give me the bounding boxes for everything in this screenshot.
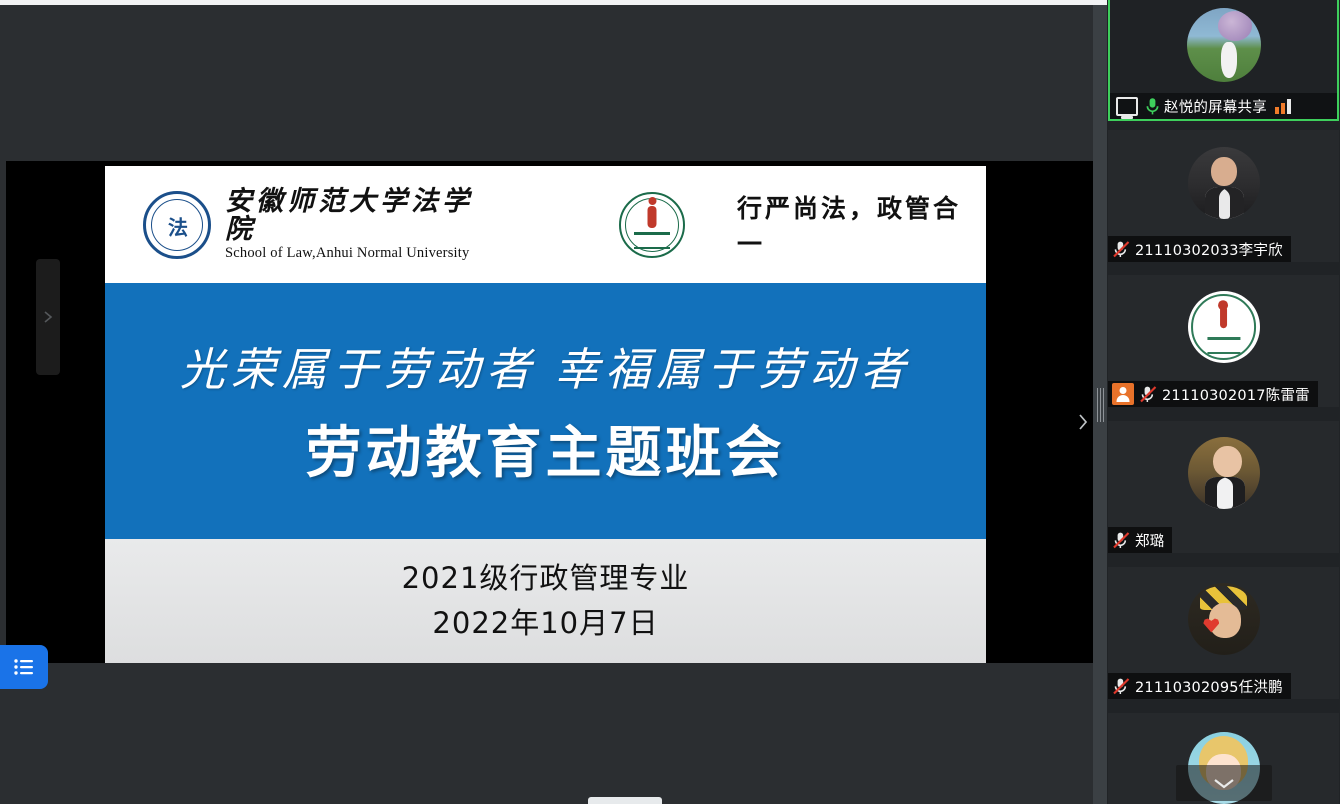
avatar <box>1188 291 1260 363</box>
participant-name-strip: 21110302095任洪鹏 <box>1108 673 1291 699</box>
participant-tile-sharing[interactable]: 赵悦的屏幕共享 <box>1108 0 1339 121</box>
avatar <box>1187 8 1261 82</box>
bottom-toolbar-peek[interactable] <box>588 797 662 804</box>
law-school-logo: 法 安徽师范大学法学院 School of Law,Anhui Normal U… <box>143 187 501 263</box>
scroll-down-button[interactable] <box>1176 765 1272 801</box>
participant-tile[interactable]: 21110302017陈雷雷 <box>1108 275 1339 407</box>
slide-date-line: 2022年10月7日 <box>432 601 658 646</box>
list-icon <box>13 658 35 676</box>
participant-name: 21110302033李宇欣 <box>1135 239 1283 260</box>
participant-name-strip: 21110302017陈雷雷 <box>1108 381 1318 407</box>
participants-rail[interactable]: 赵悦的屏幕共享 21110302033李宇欣 <box>1107 0 1340 804</box>
panel-drag-handle[interactable] <box>1093 5 1107 804</box>
slide-footer: 2021级行政管理专业 2022年10月7日 <box>105 539 986 663</box>
mic-muted-icon <box>1112 531 1131 550</box>
org-name-en: School of Law,Anhui Normal University <box>225 245 501 262</box>
participant-tile[interactable]: 郑璐 <box>1108 421 1339 553</box>
stage-letterbox-top <box>0 5 1093 161</box>
participant-name: 赵悦的屏幕共享 <box>1164 96 1267 117</box>
zoom-meeting-window: 法 安徽师范大学法学院 School of Law,Anhui Normal U… <box>0 0 1340 804</box>
mic-muted-icon <box>1112 240 1131 259</box>
shared-screen-stage[interactable]: 法 安徽师范大学法学院 School of Law,Anhui Normal U… <box>0 5 1093 780</box>
participant-name: 21110302017陈雷雷 <box>1162 384 1310 405</box>
slide-title-band: 光荣属于劳动者 幸福属于劳动者 劳动教育主题班会 <box>105 283 986 539</box>
left-panel-expand-handle[interactable] <box>36 259 60 375</box>
signal-bars-icon <box>1275 99 1291 114</box>
participants-list-button[interactable] <box>0 645 48 689</box>
participant-name-strip: 郑璐 <box>1108 527 1172 553</box>
avatar <box>1188 583 1260 655</box>
law-school-seal-icon: 法 <box>143 191 211 259</box>
participant-tile[interactable] <box>1108 713 1339 804</box>
university-emblem-block: 行严尚法，政管合一 <box>619 189 986 261</box>
screen-share-icon <box>1116 97 1138 116</box>
mic-muted-icon <box>1139 385 1158 404</box>
mic-muted-icon <box>1112 677 1131 696</box>
participant-name-strip: 赵悦的屏幕共享 <box>1110 93 1337 119</box>
avatar <box>1188 437 1260 509</box>
presentation-slide: 法 安徽师范大学法学院 School of Law,Anhui Normal U… <box>105 166 986 663</box>
chevron-down-icon <box>1211 776 1237 790</box>
slide-main-title: 劳动教育主题班会 <box>306 408 786 489</box>
chevron-right-icon <box>1077 412 1089 432</box>
mic-on-icon <box>1145 97 1160 116</box>
slide-header: 法 安徽师范大学法学院 School of Law,Anhui Normal U… <box>105 166 986 283</box>
vertical-drag-handle-icon <box>1097 388 1104 422</box>
participant-name: 21110302095任洪鹏 <box>1135 676 1283 697</box>
participant-name: 郑璐 <box>1135 530 1164 551</box>
org-name-cn: 安徽师范大学法学院 <box>225 187 501 244</box>
slide-slogan: 行严尚法，政管合一 <box>737 189 986 261</box>
participant-tile[interactable]: 21110302095任洪鹏 <box>1108 567 1339 699</box>
university-emblem-icon <box>619 192 685 258</box>
host-badge-icon <box>1112 383 1134 405</box>
stage-letterbox-bottom <box>0 663 1093 804</box>
stage-letterbox-left <box>0 161 6 663</box>
seal-character: 法 <box>168 211 186 240</box>
chevron-right-icon <box>43 310 53 324</box>
next-page-arrow-button[interactable] <box>1072 405 1094 439</box>
slide-subtitle: 光荣属于劳动者 幸福属于劳动者 <box>180 333 911 398</box>
participant-tile[interactable]: 21110302033李宇欣 <box>1108 130 1339 262</box>
avatar <box>1188 147 1260 219</box>
participant-name-strip: 21110302033李宇欣 <box>1108 236 1291 262</box>
slide-class-line: 2021级行政管理专业 <box>402 556 690 601</box>
